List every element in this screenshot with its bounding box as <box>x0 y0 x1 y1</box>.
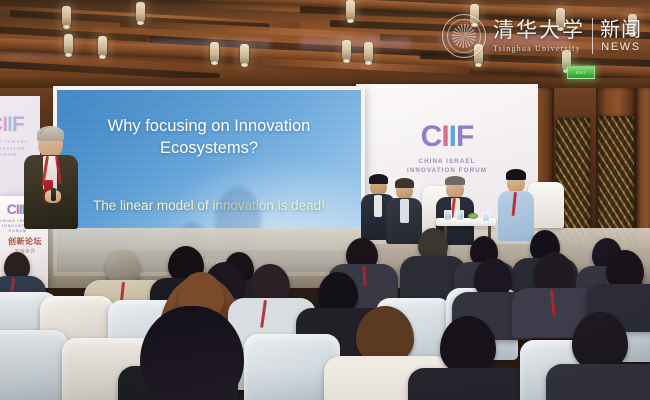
water-glass <box>456 210 464 221</box>
conference-photo-scene: EXIT CIIF CHINA ISRAEL INNOVATION FORUM … <box>0 0 650 400</box>
water-glass <box>482 211 490 222</box>
ceiling-spotlight <box>98 36 107 57</box>
slide-subtitle: The linear model of innovation is dead! <box>57 198 361 213</box>
ceiling-spotlight <box>342 40 351 61</box>
potted-plant <box>468 213 478 219</box>
ciif-logo-left: CIIF CHINA ISRAEL INNOVATION FORUM <box>0 114 36 159</box>
ceiling-spotlight <box>628 14 637 35</box>
ciif-logo-main: CIIF CHINA ISRAEL INNOVATION FORUM <box>356 122 538 176</box>
water-glass <box>444 210 452 221</box>
ceiling-spotlight <box>136 2 145 23</box>
long-hair <box>140 306 244 400</box>
ceiling-spotlight <box>64 34 73 55</box>
wooden-slatted-ceiling <box>0 0 650 96</box>
ceiling-spotlight <box>346 0 355 21</box>
ceiling-spotlight <box>470 4 479 25</box>
handheld-microphone <box>51 188 56 201</box>
ceiling-spotlight <box>556 8 565 29</box>
banquet-chair <box>0 330 68 400</box>
exit-sign-label: EXIT <box>576 70 587 75</box>
ceiling-spotlight <box>364 42 373 63</box>
ciif-letter-c: C <box>7 201 16 217</box>
ciif-letter-f: F <box>456 120 473 153</box>
ciif-letter-i2: I <box>449 120 456 153</box>
ceiling-spotlight <box>240 44 249 65</box>
exit-sign: EXIT <box>567 66 595 79</box>
slide-title: Why focusing on Innovation Ecosystems? <box>57 115 361 160</box>
ciif-tagline-line1: CHINA ISRAEL <box>356 158 538 167</box>
decorative-lattice-panel <box>598 116 634 244</box>
ciif-letter-c: C <box>421 120 442 153</box>
ceiling-spotlight <box>62 6 71 27</box>
ciif-tagline-line1: CHINA ISRAEL <box>0 139 36 146</box>
ciif-letter-f: F <box>12 113 24 136</box>
ciif-letter-i1: I <box>441 120 448 153</box>
ceiling-spotlight <box>210 42 219 63</box>
ceiling-spotlight <box>474 44 483 65</box>
